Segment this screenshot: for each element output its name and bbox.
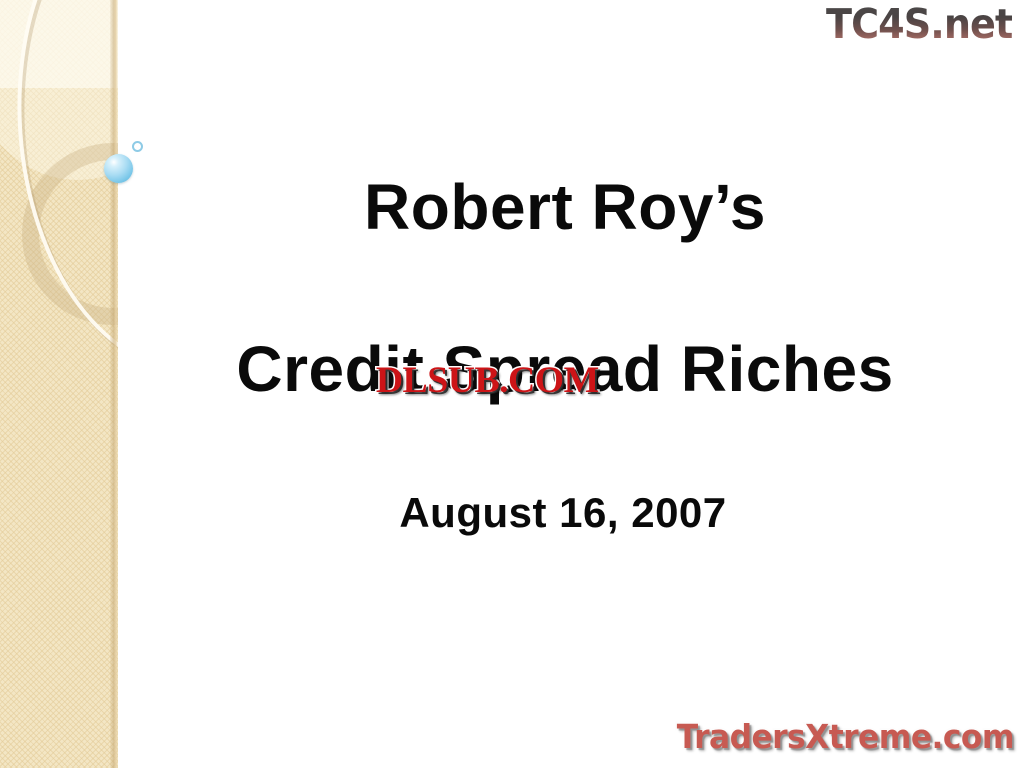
decorative-sidebar-band	[0, 0, 118, 768]
slide-date: August 16, 2007	[110, 489, 1016, 537]
tradersxtreme-logo: TradersXtreme.com	[677, 717, 1014, 756]
presentation-slide: Robert Roy’s Credit Spread Riches August…	[0, 0, 1024, 768]
tc4s-logo: TC4S.net	[826, 2, 1012, 46]
slide-title-line-1: Robert Roy’s	[112, 170, 1018, 244]
dlsub-watermark: DLSUB.COM	[376, 359, 599, 402]
